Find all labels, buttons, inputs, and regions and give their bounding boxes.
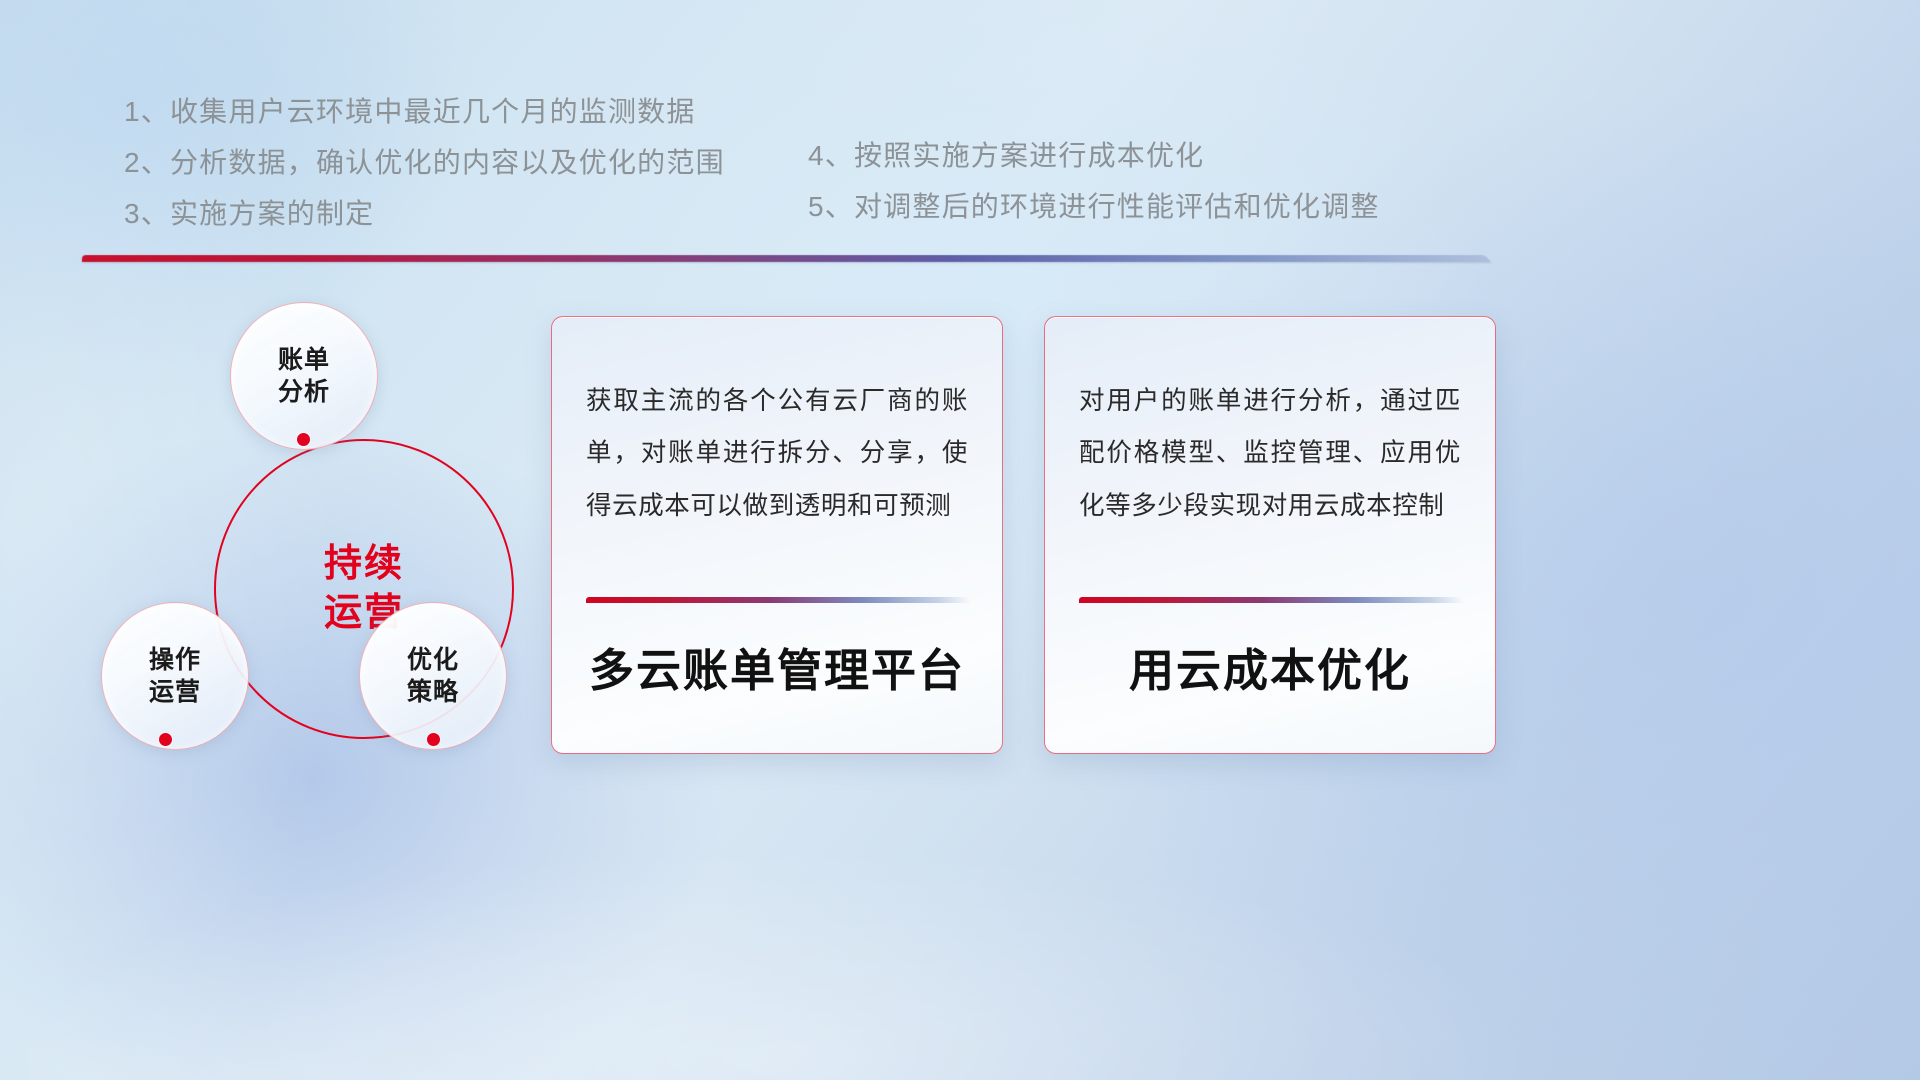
bubble-left-line1: 操作 xyxy=(149,646,201,674)
card-1-body: 获取主流的各个公有云厂商的账单，对账单进行拆分、分享，使得云成本可以做到透明和可… xyxy=(586,375,968,532)
steps-column-right: 4、按照实施方案进行成本优化 5、对调整后的环境进行性能评估和优化调整 xyxy=(808,142,1380,244)
diagram-node-dot-left xyxy=(159,733,172,746)
diagram-bubble-optimization-strategy[interactable]: 优化 策略 xyxy=(359,602,507,750)
step-item-4: 4、按照实施方案进行成本优化 xyxy=(808,142,1380,170)
card-cloud-cost-optimization[interactable]: 对用户的账单进行分析，通过匹配价格模型、监控管理、应用优化等多少段实现对用云成本… xyxy=(1044,316,1496,754)
card-2-divider-rule xyxy=(1079,597,1464,603)
continuous-operation-diagram: 持续 运营 账单 分析 操作 运营 优化 策略 xyxy=(85,290,535,770)
diagram-bubble-operation[interactable]: 操作 运营 xyxy=(101,602,249,750)
bubble-top-line2: 分析 xyxy=(278,378,330,406)
step-item-2: 2、分析数据，确认优化的内容以及优化的范围 xyxy=(124,149,725,177)
step-item-5: 5、对调整后的环境进行性能评估和优化调整 xyxy=(808,193,1380,221)
bubble-top-line1: 账单 xyxy=(278,346,330,374)
bubble-left-line2: 运营 xyxy=(149,678,201,706)
bubble-right-line2: 策略 xyxy=(407,678,459,706)
steps-section: 1、收集用户云环境中最近几个月的监测数据 2、分析数据，确认优化的内容以及优化的… xyxy=(0,90,1920,250)
diagram-node-dot-right xyxy=(427,733,440,746)
steps-column-left: 1、收集用户云环境中最近几个月的监测数据 2、分析数据，确认优化的内容以及优化的… xyxy=(124,98,725,251)
bubble-right-line1: 优化 xyxy=(407,646,459,674)
step-item-3: 3、实施方案的制定 xyxy=(124,200,725,228)
card-1-divider-rule xyxy=(586,597,971,603)
step-item-1: 1、收集用户云环境中最近几个月的监测数据 xyxy=(124,98,725,126)
card-1-title: 多云账单管理平台 xyxy=(552,634,1002,699)
card-multi-cloud-bill-platform[interactable]: 获取主流的各个公有云厂商的账单，对账单进行拆分、分享，使得云成本可以做到透明和可… xyxy=(551,316,1003,754)
diagram-bubble-bill-analysis[interactable]: 账单 分析 xyxy=(230,302,378,450)
card-2-body: 对用户的账单进行分析，通过匹配价格模型、监控管理、应用优化等多少段实现对用云成本… xyxy=(1079,375,1461,532)
diagram-center-label-line1: 持续 xyxy=(324,543,404,585)
card-2-title: 用云成本优化 xyxy=(1045,634,1495,699)
diagram-node-dot-top xyxy=(297,433,310,446)
section-divider-rule xyxy=(82,255,1491,262)
